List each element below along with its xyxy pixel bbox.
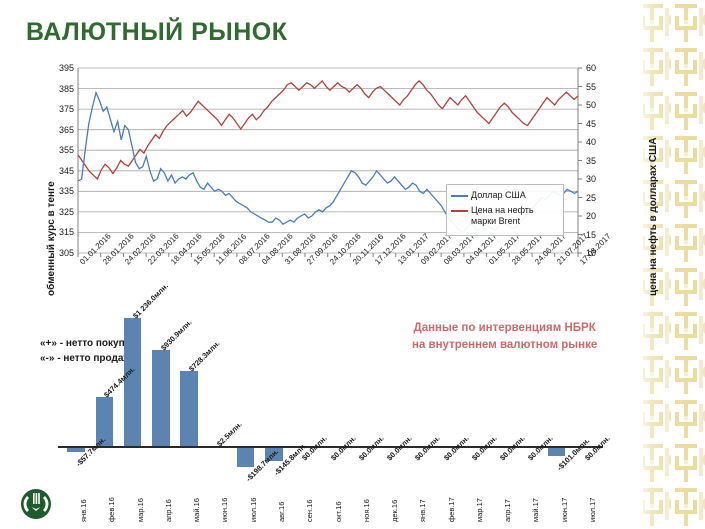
bar-value-label: $0.0млн. bbox=[329, 434, 358, 463]
bar-value-label: $0.0млн. bbox=[442, 434, 471, 463]
bar-category-label: янв.16 bbox=[79, 499, 88, 522]
right-axis-tick-25: 25 bbox=[586, 193, 608, 203]
legend-label-oil: Цена на нефть марки Brent bbox=[471, 205, 559, 227]
bar-category-label: июл.16 bbox=[249, 498, 258, 522]
exchange-rate-oil-line-chart: обменный курс в тенге цена на нефть в до… bbox=[0, 58, 660, 303]
bar-value-label: $0.0млн. bbox=[357, 434, 386, 463]
left-axis-tick-305: 305 bbox=[52, 248, 74, 258]
left-axis-tick-345: 345 bbox=[52, 166, 74, 176]
right-axis-tick-50: 50 bbox=[586, 100, 608, 110]
y-tick-marks bbox=[578, 68, 582, 253]
bar-category-label: май.16 bbox=[192, 498, 201, 522]
bar-category-label: июл.17 bbox=[588, 498, 597, 522]
interventions-note-line1: Данные по интервенциям НБРК bbox=[412, 320, 597, 337]
right-axis-tick-55: 55 bbox=[586, 82, 608, 92]
legend-item-oil[interactable]: Цена на нефть марки Brent bbox=[451, 205, 559, 227]
legend-swatch-usd bbox=[451, 195, 468, 197]
fx-interventions-bar-chart: «+» - нетто покупка «-» - нетто продажа … bbox=[0, 300, 660, 529]
right-axis-tick-40: 40 bbox=[586, 137, 608, 147]
bar-category-label: окт.16 bbox=[334, 501, 343, 522]
bar-мар.16[interactable] bbox=[124, 318, 142, 446]
left-axis-tick-365: 365 bbox=[52, 125, 74, 135]
bar-value-label: $930.9млн. bbox=[159, 317, 194, 352]
bar-value-label: $0.0млн. bbox=[498, 434, 527, 463]
left-axis-tick-375: 375 bbox=[52, 104, 74, 114]
bar-category-label: дек.16 bbox=[390, 500, 399, 522]
bar-май.16[interactable] bbox=[180, 371, 198, 446]
netto-buy-note: «+» - нетто покупка bbox=[40, 336, 136, 351]
netto-legend-note: «+» - нетто покупка «-» - нетто продажа bbox=[40, 336, 136, 366]
right-axis-tick-35: 35 bbox=[586, 156, 608, 166]
left-axis-tick-395: 395 bbox=[52, 63, 74, 73]
legend-item-usd[interactable]: Доллар США bbox=[451, 190, 559, 201]
right-axis-tick-20: 20 bbox=[586, 211, 608, 221]
bar-июн.17[interactable] bbox=[548, 446, 566, 456]
right-axis-tick-45: 45 bbox=[586, 119, 608, 129]
interventions-note-line2: на внутреннем валютном рынке bbox=[412, 337, 597, 354]
netto-sell-note: «-» - нетто продажа bbox=[40, 351, 136, 366]
interventions-note: Данные по интервенциям НБРК на внутренне… bbox=[412, 320, 597, 354]
left-axis-tick-335: 335 bbox=[52, 186, 74, 196]
bar-апр.16[interactable] bbox=[152, 350, 170, 446]
left-axis-tick-315: 315 bbox=[52, 227, 74, 237]
logo-svg bbox=[16, 487, 56, 521]
slide-canvas: ВАЛЮТНЫЙ РЫНОК обменный курс в тенге цен… bbox=[0, 0, 705, 529]
bar-value-label: $728.3млн. bbox=[187, 338, 222, 373]
bar-category-label: апр.16 bbox=[164, 499, 173, 522]
bar-category-label: фев.17 bbox=[447, 497, 456, 522]
bar-category-label: май.17 bbox=[531, 498, 540, 522]
bar-chart-baseline bbox=[58, 446, 603, 448]
bar-value-label: $2.5млн. bbox=[215, 419, 244, 448]
national-bank-kazakhstan-logo bbox=[16, 487, 56, 521]
bar-value-label: $0.0млн. bbox=[413, 434, 442, 463]
bar-category-label: мар.16 bbox=[136, 498, 145, 522]
left-axis-tick-385: 385 bbox=[52, 84, 74, 94]
legend-swatch-oil bbox=[451, 210, 468, 212]
bar-category-label: сен.16 bbox=[305, 500, 314, 523]
bar-июл.16[interactable] bbox=[237, 446, 255, 467]
bar-category-label: апр.17 bbox=[503, 499, 512, 522]
right-axis-tick-60: 60 bbox=[586, 63, 608, 73]
bar-category-label: июн.17 bbox=[560, 498, 569, 522]
page-title: ВАЛЮТНЫЙ РЫНОК bbox=[26, 18, 288, 47]
chart-legend: Доллар США Цена на нефть марки Brent bbox=[446, 184, 564, 236]
bar-category-label: фев.16 bbox=[107, 497, 116, 522]
legend-label-usd: Доллар США bbox=[471, 190, 526, 201]
bar-category-label: ноя.16 bbox=[362, 499, 371, 522]
bar-category-label: июн.16 bbox=[220, 498, 229, 522]
bar-value-label: $0.0млн. bbox=[385, 434, 414, 463]
bar-value-label: $0.0млн. bbox=[470, 434, 499, 463]
left-axis-tick-355: 355 bbox=[52, 145, 74, 155]
right-axis-tick-30: 30 bbox=[586, 174, 608, 184]
left-axis-tick-325: 325 bbox=[52, 207, 74, 217]
bar-category-label: авг.16 bbox=[277, 502, 286, 522]
bar-category-label: мар.17 bbox=[475, 498, 484, 522]
bar-category-label: янв.17 bbox=[418, 499, 427, 522]
